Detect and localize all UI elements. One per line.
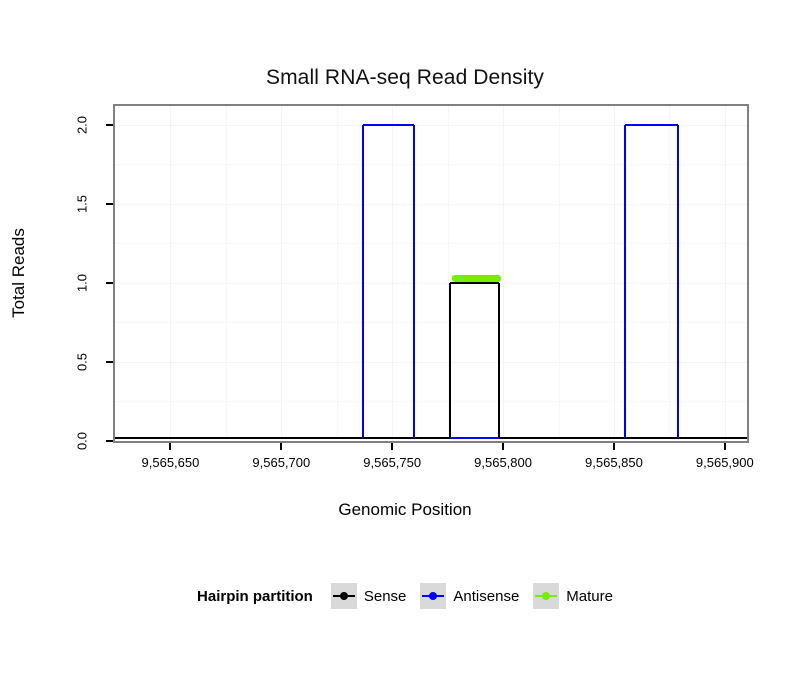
y-tick-label: 1.0 bbox=[75, 266, 90, 300]
chart-figure: Small RNA-seq Read Density 9,565,6509,56… bbox=[0, 0, 810, 690]
sense-line-icon bbox=[331, 583, 357, 609]
gridline-vertical bbox=[669, 106, 670, 441]
y-tick-mark bbox=[106, 282, 113, 284]
legend-title: Hairpin partition bbox=[197, 588, 313, 605]
x-tick-mark bbox=[280, 443, 282, 450]
series-antisense-segment bbox=[362, 125, 364, 438]
series-antisense-segment bbox=[625, 124, 678, 126]
chart-title: Small RNA-seq Read Density bbox=[0, 66, 810, 90]
series-mature-segment bbox=[452, 275, 501, 282]
gridline-vertical bbox=[503, 106, 504, 441]
legend: Hairpin partition Sense Antisense Mature bbox=[0, 583, 810, 609]
series-antisense-segment bbox=[677, 125, 679, 438]
legend-label-mature: Mature bbox=[566, 588, 613, 605]
gridline-vertical bbox=[614, 106, 615, 441]
x-tick-mark bbox=[613, 443, 615, 450]
gridline-horizontal bbox=[115, 164, 747, 165]
gridline-vertical bbox=[170, 106, 171, 441]
antisense-line-icon bbox=[420, 583, 446, 609]
gridline-horizontal bbox=[115, 243, 747, 244]
y-tick-mark bbox=[106, 361, 113, 363]
legend-label-sense: Sense bbox=[364, 588, 407, 605]
x-tick-mark bbox=[724, 443, 726, 450]
gridline-vertical bbox=[392, 106, 393, 441]
gridline-horizontal bbox=[115, 283, 747, 284]
gridline-horizontal bbox=[115, 401, 747, 402]
series-sense-segment bbox=[450, 282, 499, 284]
y-tick-mark bbox=[106, 203, 113, 205]
x-tick-mark bbox=[391, 443, 393, 450]
series-sense-segment bbox=[498, 283, 500, 438]
x-axis-title: Genomic Position bbox=[0, 500, 810, 520]
y-tick-label: 2.0 bbox=[75, 108, 90, 142]
legend-item-mature[interactable]: Mature bbox=[533, 583, 613, 609]
y-tick-label: 0.5 bbox=[75, 345, 90, 379]
gridline-vertical bbox=[337, 106, 338, 441]
series-antisense-segment bbox=[413, 125, 415, 438]
x-tick-label: 9,565,850 bbox=[585, 455, 643, 470]
gridline-vertical bbox=[226, 106, 227, 441]
gridline-horizontal bbox=[115, 362, 747, 363]
series-sense-segment bbox=[449, 283, 451, 438]
x-tick-label: 9,565,750 bbox=[363, 455, 421, 470]
series-antisense-segment bbox=[450, 437, 499, 439]
series-antisense-segment bbox=[363, 124, 414, 126]
legend-label-antisense: Antisense bbox=[453, 588, 519, 605]
plot-area bbox=[115, 106, 747, 441]
x-tick-label: 9,565,700 bbox=[252, 455, 310, 470]
y-tick-mark bbox=[106, 440, 113, 442]
y-tick-label: 1.5 bbox=[75, 187, 90, 221]
gridline-vertical bbox=[281, 106, 282, 441]
series-sense-segment bbox=[499, 437, 747, 439]
gridline-vertical bbox=[725, 106, 726, 441]
x-tick-label: 9,565,800 bbox=[474, 455, 532, 470]
y-tick-mark bbox=[106, 124, 113, 126]
x-tick-label: 9,565,650 bbox=[142, 455, 200, 470]
gridline-horizontal bbox=[115, 204, 747, 205]
x-tick-mark bbox=[169, 443, 171, 450]
series-sense-segment bbox=[115, 437, 450, 439]
y-axis-title: Total Reads bbox=[9, 228, 29, 318]
series-antisense-segment bbox=[624, 125, 626, 438]
legend-item-sense[interactable]: Sense bbox=[331, 583, 407, 609]
mature-line-icon bbox=[533, 583, 559, 609]
plot-panel bbox=[113, 104, 749, 443]
gridline-vertical bbox=[559, 106, 560, 441]
x-tick-label: 9,565,900 bbox=[696, 455, 754, 470]
y-tick-label: 0.0 bbox=[75, 424, 90, 458]
legend-item-antisense[interactable]: Antisense bbox=[420, 583, 519, 609]
x-tick-mark bbox=[502, 443, 504, 450]
gridline-horizontal bbox=[115, 322, 747, 323]
